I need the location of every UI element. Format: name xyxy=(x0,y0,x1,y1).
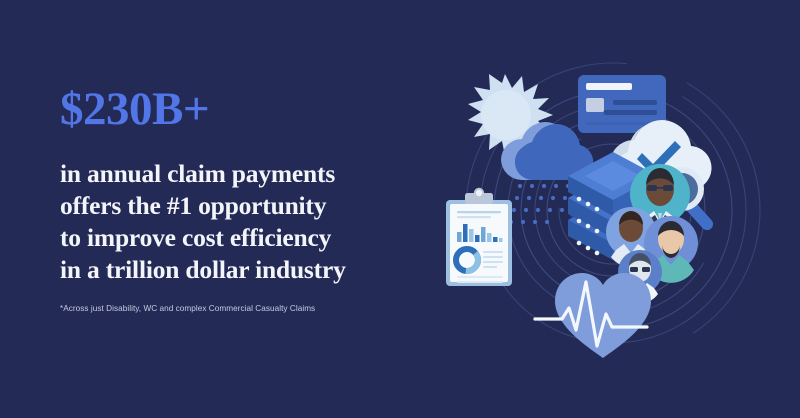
subheadline: in annual claim payments offers the #1 o… xyxy=(60,134,400,287)
subheadline-line: in annual claim payments xyxy=(60,158,400,190)
subheadline-line: to improve cost efficiency xyxy=(60,222,400,254)
page-title: $230B+ xyxy=(60,86,400,134)
subheadline-line: offers the #1 opportunity xyxy=(60,190,400,222)
clipboard-report-icon xyxy=(446,189,512,286)
infographic-banner: $230B+ in annual claim payments offers t… xyxy=(0,0,800,418)
text-block: $230B+ in annual claim payments offers t… xyxy=(60,86,400,315)
footnote: *Across just Disability, WC and complex … xyxy=(60,286,400,315)
heart-pulse-icon xyxy=(535,273,651,358)
rain-drops xyxy=(509,184,570,224)
subheadline-line: in a trillion dollar industry xyxy=(60,254,400,286)
illustration xyxy=(438,52,783,382)
